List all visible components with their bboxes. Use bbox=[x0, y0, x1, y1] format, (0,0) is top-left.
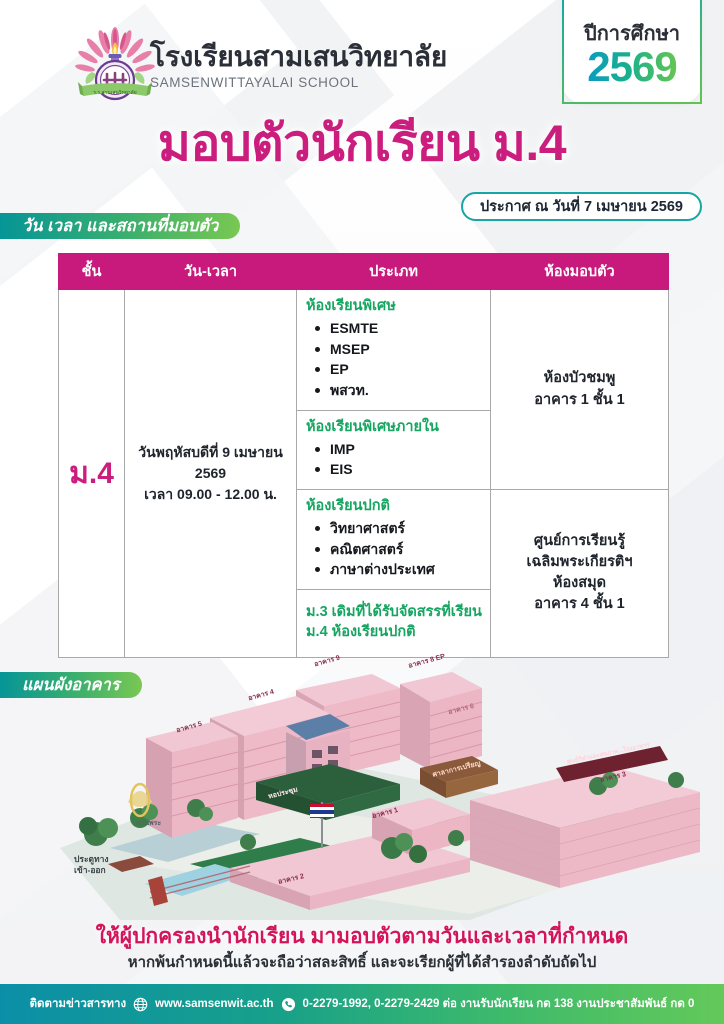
section-header-schedule: วัน เวลา และสถานที่มอบตัว bbox=[0, 213, 240, 239]
school-name-thai: โรงเรียนสามเสนวิทยาลัย bbox=[150, 42, 447, 71]
phone-icon bbox=[281, 997, 296, 1012]
list-item: MSEP bbox=[312, 339, 484, 360]
poster-canvas: ร.ร.สามเสนวิทยาลัย โรงเรียนสามเสนวิทยาลั… bbox=[0, 0, 724, 1024]
note-line-1: ม.3 เดิมที่ได้รับจัดสรรที่เรียน bbox=[306, 602, 484, 622]
cell-type-note: ม.3 เดิมที่ได้รับจัดสรรที่เรียน ม.4 ห้อง… bbox=[297, 590, 491, 658]
room-line-4: อาคาร 4 ชั้น 1 bbox=[495, 594, 664, 615]
column-header-room: ห้องมอบตัว bbox=[491, 254, 669, 290]
schedule-table: ชั้น วัน-เวลา ประเภท ห้องมอบตัว ม.4 วันพ… bbox=[58, 253, 669, 658]
academic-year-label: ปีการศึกษา bbox=[584, 24, 680, 44]
cell-room-top: ห้องบัวชมพู อาคาร 1 ชั้น 1 bbox=[491, 290, 669, 490]
room-line-2: เฉลิมพระเกียรติฯ bbox=[495, 552, 664, 573]
list-item: พสวท. bbox=[312, 380, 484, 401]
globe-icon bbox=[133, 997, 148, 1012]
map-label-shrine: ลานพระ bbox=[136, 818, 161, 829]
map-label-gate: ประตูทาง เข้า-ออก bbox=[74, 854, 109, 875]
type-item-list: ESMTE MSEP EP พสวท. bbox=[306, 318, 484, 401]
page-title: มอบตัวนักเรียน ม.4 bbox=[0, 118, 724, 168]
list-item: IMP bbox=[312, 439, 484, 460]
list-item: วิทยาศาสตร์ bbox=[312, 518, 484, 539]
type-heading: ห้องเรียนปกติ bbox=[306, 497, 484, 516]
list-item: EIS bbox=[312, 459, 484, 480]
room-line-1: ห้องบัวชมพู bbox=[495, 368, 664, 389]
school-name-english: SAMSENWITTAYALAI SCHOOL bbox=[150, 75, 447, 90]
type-heading: ห้องเรียนพิเศษภายใน bbox=[306, 418, 484, 437]
academic-year-badge: ปีการศึกษา 2569 bbox=[562, 0, 702, 104]
contact-footer: ติดตามข่าวสารทาง www.samsenwit.ac.th 0-2… bbox=[0, 984, 724, 1024]
cell-datetime: วันพฤหัสบดีที่ 9 เมษายน 2569 เวลา 09.00 … bbox=[125, 290, 297, 658]
school-name-block: โรงเรียนสามเสนวิทยาลัย SAMSENWITTAYALAI … bbox=[150, 42, 447, 90]
type-item-list: IMP EIS bbox=[306, 439, 484, 480]
column-header-datetime: วัน-เวลา bbox=[125, 254, 297, 290]
instruction-main: ให้ผู้ปกครองนำนักเรียน มามอบตัวตามวันและ… bbox=[0, 925, 724, 949]
room-line-3: ห้องสมุด bbox=[495, 573, 664, 594]
cell-type-special-internal: ห้องเรียนพิเศษภายใน IMP EIS bbox=[297, 410, 491, 489]
cell-grade: ม.4 bbox=[59, 290, 125, 658]
list-item: EP bbox=[312, 359, 484, 380]
website-url[interactable]: www.samsenwit.ac.th bbox=[155, 998, 273, 1010]
room-line-1: ศูนย์การเรียนรู้ bbox=[495, 531, 664, 552]
type-item-list: วิทยาศาสตร์ คณิตศาสตร์ ภาษาต่างประเทศ bbox=[306, 518, 484, 580]
type-heading: ห้องเรียนพิเศษ bbox=[306, 297, 484, 316]
list-item: ESMTE bbox=[312, 318, 484, 339]
cell-room-bottom: ศูนย์การเรียนรู้ เฉลิมพระเกียรติฯ ห้องสม… bbox=[491, 490, 669, 658]
instruction-sub: หากพ้นกำหนดนี้แล้วจะถือว่าสละสิทธิ์ และจ… bbox=[0, 954, 724, 972]
cell-type-special: ห้องเรียนพิเศษ ESMTE MSEP EP พสวท. bbox=[297, 290, 491, 411]
column-header-type: ประเภท bbox=[297, 254, 491, 290]
datetime-line-1: วันพฤหัสบดีที่ 9 เมษายน 2569 bbox=[129, 442, 292, 484]
room-line-2: อาคาร 1 ชั้น 1 bbox=[495, 390, 664, 411]
datetime-line-2: เวลา 09.00 - 12.00 น. bbox=[129, 484, 292, 505]
note-line-2: ม.4 ห้องเรียนปกติ bbox=[306, 622, 484, 642]
section-header-map: แผนผังอาคาร bbox=[0, 672, 142, 698]
announcement-date-badge: ประกาศ ณ วันที่ 7 เมษายน 2569 bbox=[461, 192, 702, 221]
phone-numbers: 0-2279-1992, 0-2279-2429 ต่อ งานรับนักเร… bbox=[303, 995, 695, 1013]
list-item: ภาษาต่างประเทศ bbox=[312, 559, 484, 580]
school-crest-logo: ร.ร.สามเสนวิทยาลัย bbox=[70, 24, 160, 110]
table-row: ม.4 วันพฤหัสบดีที่ 9 เมษายน 2569 เวลา 09… bbox=[59, 290, 669, 411]
follow-label: ติดตามข่าวสารทาง bbox=[30, 995, 127, 1013]
column-header-grade: ชั้น bbox=[59, 254, 125, 290]
table-header-row: ชั้น วัน-เวลา ประเภท ห้องมอบตัว bbox=[59, 254, 669, 290]
list-item: คณิตศาสตร์ bbox=[312, 539, 484, 560]
svg-text:ร.ร.สามเสนวิทยาลัย: ร.ร.สามเสนวิทยาลัย bbox=[93, 89, 136, 96]
cell-type-regular: ห้องเรียนปกติ วิทยาศาสตร์ คณิตศาสตร์ ภาษ… bbox=[297, 490, 491, 590]
poster-header: ร.ร.สามเสนวิทยาลัย โรงเรียนสามเสนวิทยาลั… bbox=[0, 0, 724, 118]
academic-year-value: 2569 bbox=[587, 46, 676, 88]
